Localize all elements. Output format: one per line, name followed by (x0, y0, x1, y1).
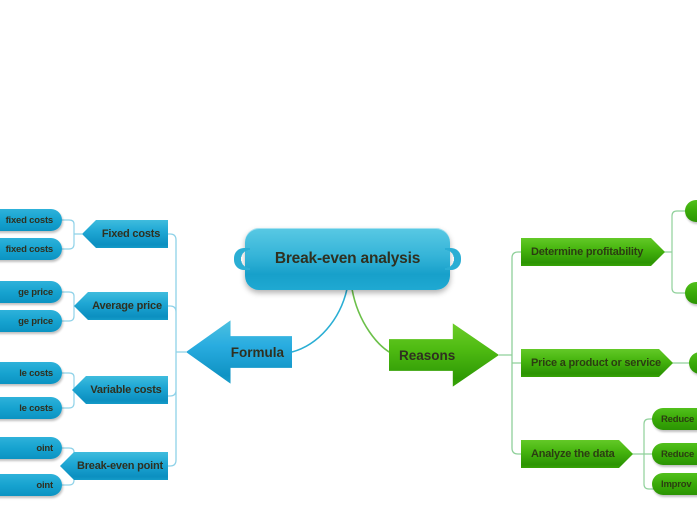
leaf-analyze-the-data-1[interactable]: Reduce (652, 408, 697, 430)
connector-central-to-formula (292, 289, 347, 352)
node-average-price[interactable]: Average price (74, 292, 168, 320)
node-determine-profitability-label: Determine profitability (531, 246, 643, 258)
leaf-fixed-costs-1-label: fixed costs (6, 215, 53, 226)
connector-formula-bracket (162, 234, 186, 466)
leaf-break-even-point-2[interactable]: oint (0, 474, 62, 496)
leaf-analyze-the-data-3-label: Improv (661, 479, 691, 490)
branch-arrow-reasons-label: Reasons (399, 348, 455, 363)
leaf-break-even-point-2-label: oint (36, 480, 53, 491)
leaf-analyze-the-data-2[interactable]: Reduce (652, 443, 697, 465)
leaf-analyze-the-data-1-label: Reduce (661, 414, 694, 425)
leaf-variable-costs-2-label: le costs (19, 403, 53, 414)
leaf-fixed-costs-2-label: fixed costs (6, 244, 53, 255)
central-node[interactable]: Break-even analysis (245, 228, 450, 290)
node-determine-profitability[interactable]: Determine profitability (521, 238, 665, 266)
node-fixed-costs[interactable]: Fixed costs (82, 220, 168, 248)
node-average-price-label: Average price (92, 300, 162, 312)
node-fixed-costs-label: Fixed costs (102, 228, 160, 240)
central-node-label: Break-even analysis (275, 250, 420, 268)
leaf-break-even-point-1[interactable]: oint (0, 437, 62, 459)
node-price-a-product-or-service-label: Price a product or service (531, 357, 661, 369)
node-price-a-product-or-service[interactable]: Price a product or service (521, 349, 673, 377)
leaf-average-price-1[interactable]: ge price (0, 281, 62, 303)
leaf-average-price-2[interactable]: ge price (0, 310, 62, 332)
leaf-analyze-the-data-2-label: Reduce (661, 449, 694, 460)
mindmap-canvas: Break-even analysis Formula Reasons Fixe… (0, 0, 697, 520)
leaf-variable-costs-1[interactable]: le costs (0, 362, 62, 384)
leaf-average-price-1-label: ge price (18, 287, 53, 298)
node-analyze-the-data[interactable]: Analyze the data (521, 440, 633, 468)
connector-fixed-costs-leaves (62, 220, 82, 249)
node-break-even-point-label: Break-even point (77, 460, 163, 472)
leaf-fixed-costs-2[interactable]: fixed costs (0, 238, 62, 260)
branch-arrow-formula-label: Formula (231, 345, 284, 360)
leaf-analyze-the-data-3[interactable]: Improv (652, 473, 697, 495)
connector-central-to-reasons (352, 289, 395, 355)
leaf-variable-costs-1-label: le costs (19, 368, 53, 379)
leaf-variable-costs-2[interactable]: le costs (0, 397, 62, 419)
leaf-fixed-costs-1[interactable]: fixed costs (0, 209, 62, 231)
connector-determine-profitability-leaves (664, 211, 690, 293)
node-break-even-point[interactable]: Break-even point (60, 452, 168, 480)
node-variable-costs-label: Variable costs (90, 384, 161, 396)
leaf-average-price-2-label: ge price (18, 316, 53, 327)
node-analyze-the-data-label: Analyze the data (531, 448, 615, 460)
leaf-break-even-point-1-label: oint (36, 443, 53, 454)
node-variable-costs[interactable]: Variable costs (72, 376, 168, 404)
